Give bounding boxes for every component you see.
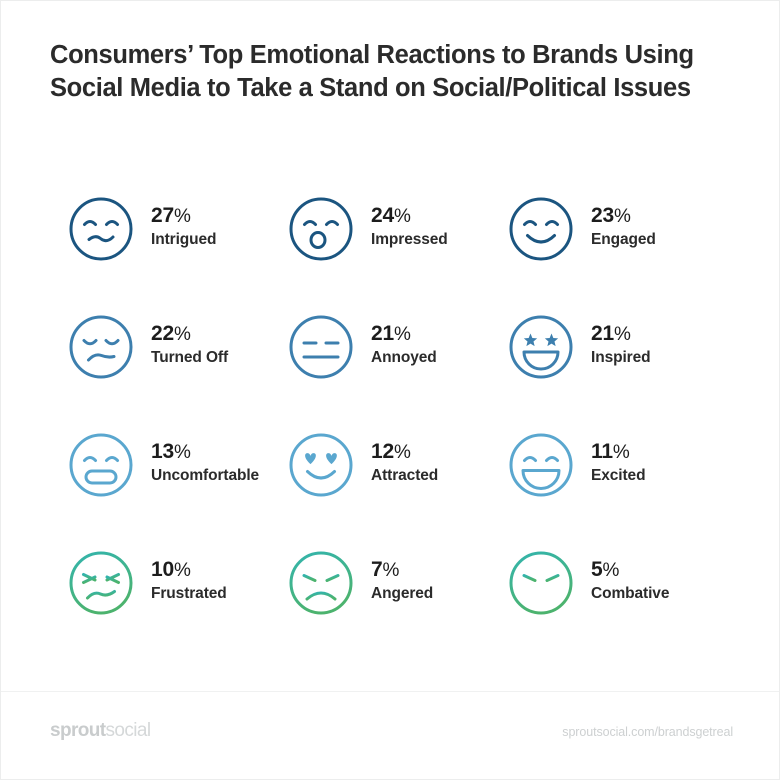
percentage-symbol: % — [394, 324, 411, 345]
emotion-text-group: 12%Attracted — [371, 431, 438, 487]
emotion-percentage: 21% — [591, 322, 651, 347]
emotion-item-turned-off: 22%Turned Off — [67, 313, 287, 431]
emotion-row: 13%Uncomfortable12%Attracted11%Excited — [67, 431, 727, 549]
emotion-label: Engaged — [591, 229, 656, 251]
face-frustrated-icon — [67, 549, 135, 617]
face-inspired-icon — [507, 313, 575, 381]
emotion-text-group: 5%Combative — [591, 549, 669, 605]
emotion-label: Annoyed — [371, 347, 437, 369]
emotion-percentage: 22% — [151, 322, 228, 347]
emotion-item-uncomfortable: 13%Uncomfortable — [67, 431, 287, 549]
face-attracted-icon — [287, 431, 355, 499]
emotion-text-group: 11%Excited — [591, 431, 645, 487]
emotion-text-group: 10%Frustrated — [151, 549, 227, 605]
percentage-value: 21 — [591, 322, 614, 345]
percentage-symbol: % — [602, 560, 619, 581]
infographic-canvas: Consumers’ Top Emotional Reactions to Br… — [0, 0, 780, 780]
face-intrigued-icon — [67, 195, 135, 263]
emotion-text-group: 27%Intrigued — [151, 195, 216, 251]
face-engaged-icon — [507, 195, 575, 263]
percentage-symbol: % — [394, 442, 411, 463]
emotion-label: Combative — [591, 583, 669, 605]
emotion-row: 10%Frustrated7%Angered5%Combative — [67, 549, 727, 667]
percentage-value: 12 — [371, 440, 394, 463]
percentage-value: 21 — [371, 322, 394, 345]
percentage-symbol: % — [394, 206, 411, 227]
face-annoyed-icon — [287, 313, 355, 381]
percentage-symbol: % — [174, 206, 191, 227]
emotion-percentage: 7% — [371, 558, 433, 583]
percentage-symbol: % — [614, 324, 631, 345]
sprout-social-logo: sproutsocial — [50, 720, 151, 742]
percentage-symbol: % — [174, 560, 191, 581]
emotion-text-group: 7%Angered — [371, 549, 433, 605]
face-combative-icon — [507, 549, 575, 617]
emotion-percentage: 13% — [151, 440, 259, 465]
percentage-symbol: % — [174, 442, 191, 463]
percentage-value: 13 — [151, 440, 174, 463]
emotion-label: Inspired — [591, 347, 651, 369]
emotion-label: Intrigued — [151, 229, 216, 251]
percentage-symbol: % — [382, 560, 399, 581]
emotion-text-group: 21%Annoyed — [371, 313, 437, 369]
emotion-item-intrigued: 27%Intrigued — [67, 195, 287, 313]
percentage-value: 11 — [591, 440, 613, 463]
emotion-label: Excited — [591, 465, 645, 487]
emotion-text-group: 24%Impressed — [371, 195, 448, 251]
footer-divider — [1, 691, 780, 692]
page-title: Consumers’ Top Emotional Reactions to Br… — [50, 39, 750, 105]
emotion-percentage: 21% — [371, 322, 437, 347]
emotion-text-group: 21%Inspired — [591, 313, 651, 369]
percentage-value: 27 — [151, 204, 174, 227]
percentage-value: 5 — [591, 558, 602, 581]
emotion-percentage: 27% — [151, 204, 216, 229]
percentage-value: 10 — [151, 558, 174, 581]
emotion-text-group: 23%Engaged — [591, 195, 656, 251]
percentage-value: 24 — [371, 204, 394, 227]
logo-light-text: social — [106, 720, 151, 741]
emotion-percentage: 5% — [591, 558, 669, 583]
emotion-item-angered: 7%Angered — [287, 549, 507, 667]
emotion-text-group: 22%Turned Off — [151, 313, 228, 369]
emotion-label: Turned Off — [151, 347, 228, 369]
title-line-2: Social Media to Take a Stand on Social/P… — [50, 72, 750, 105]
emotion-percentage: 11% — [591, 440, 645, 465]
percentage-symbol: % — [613, 442, 630, 463]
source-url: sproutsocial.com/brandsgetreal — [562, 725, 733, 739]
emotion-row: 27%Intrigued24%Impressed23%Engaged — [67, 195, 727, 313]
emotion-label: Frustrated — [151, 583, 227, 605]
emotion-item-excited: 11%Excited — [507, 431, 727, 549]
emotion-percentage: 12% — [371, 440, 438, 465]
emotion-percentage: 23% — [591, 204, 656, 229]
face-angered-icon — [287, 549, 355, 617]
emotion-item-frustrated: 10%Frustrated — [67, 549, 287, 667]
face-impressed-icon — [287, 195, 355, 263]
emotion-label: Attracted — [371, 465, 438, 487]
emotion-label: Impressed — [371, 229, 448, 251]
face-turned-off-icon — [67, 313, 135, 381]
face-uncomfortable-icon — [67, 431, 135, 499]
emotion-item-annoyed: 21%Annoyed — [287, 313, 507, 431]
percentage-symbol: % — [174, 324, 191, 345]
title-line-1: Consumers’ Top Emotional Reactions to Br… — [50, 39, 750, 72]
emotion-row: 22%Turned Off21%Annoyed21%Inspired — [67, 313, 727, 431]
emotion-item-attracted: 12%Attracted — [287, 431, 507, 549]
emotion-item-impressed: 24%Impressed — [287, 195, 507, 313]
percentage-value: 7 — [371, 558, 382, 581]
emotion-grid: 27%Intrigued24%Impressed23%Engaged22%Tur… — [67, 195, 727, 667]
emotion-item-inspired: 21%Inspired — [507, 313, 727, 431]
percentage-symbol: % — [614, 206, 631, 227]
emotion-text-group: 13%Uncomfortable — [151, 431, 259, 487]
percentage-value: 22 — [151, 322, 174, 345]
face-excited-icon — [507, 431, 575, 499]
emotion-item-engaged: 23%Engaged — [507, 195, 727, 313]
percentage-value: 23 — [591, 204, 614, 227]
emotion-item-combative: 5%Combative — [507, 549, 727, 667]
emotion-label: Uncomfortable — [151, 465, 259, 487]
emotion-label: Angered — [371, 583, 433, 605]
emotion-percentage: 10% — [151, 558, 227, 583]
logo-bold-text: sprout — [50, 720, 106, 741]
emotion-percentage: 24% — [371, 204, 448, 229]
